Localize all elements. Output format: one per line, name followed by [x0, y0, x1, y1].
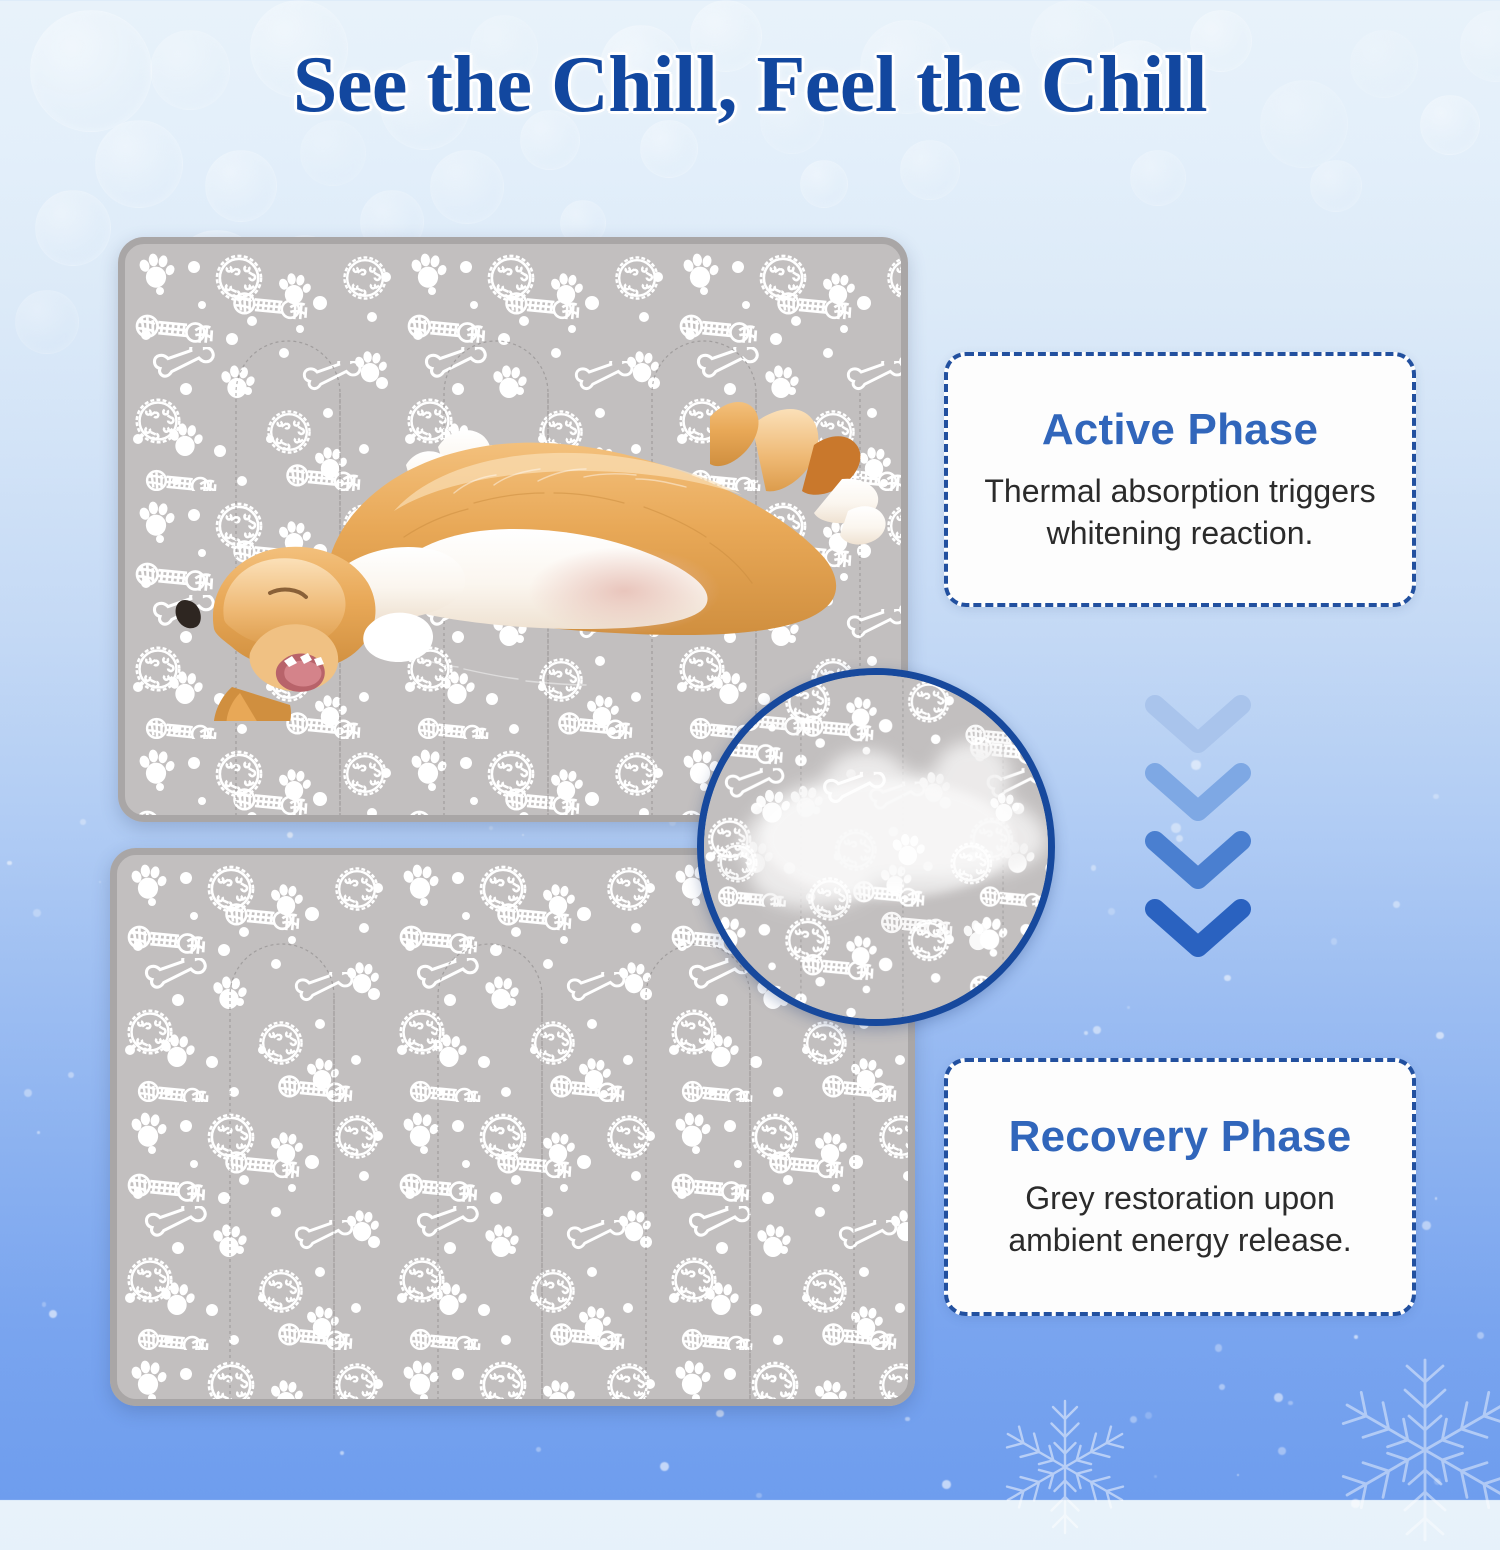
- card-body: Thermal absorption triggers whitening re…: [948, 471, 1412, 554]
- sleeping-corgi: [154, 361, 889, 721]
- snow-particle: [7, 861, 11, 865]
- snow-particle: [1084, 1031, 1088, 1035]
- snow-particle: [99, 881, 101, 883]
- snow-particle: [1436, 1032, 1443, 1039]
- snow-particle: [33, 909, 41, 917]
- snow-particle: [49, 1310, 57, 1318]
- bubble-icon: [1310, 160, 1362, 212]
- snow-particle: [1288, 1401, 1292, 1405]
- snow-particle: [68, 1072, 74, 1078]
- snow-particle: [1351, 1499, 1360, 1508]
- snow-particle: [1422, 1221, 1431, 1230]
- snow-particle: [536, 1447, 541, 1452]
- snow-particle: [660, 1462, 669, 1471]
- snow-particle: [1435, 1197, 1437, 1199]
- snow-particle: [905, 1417, 909, 1421]
- callout-card-recovery-phase: Recovery Phase Grey restoration upon amb…: [944, 1058, 1416, 1316]
- snow-particle: [1215, 1344, 1223, 1352]
- snow-particle: [1091, 865, 1097, 871]
- bubble-icon: [800, 160, 848, 208]
- card-heading: Recovery Phase: [1009, 1112, 1352, 1162]
- bubble-icon: [95, 120, 183, 208]
- magnifier-zoom-circle: [697, 668, 1055, 1026]
- bubble-icon: [35, 190, 111, 266]
- snow-particle: [1127, 1006, 1130, 1009]
- snow-particle: [1393, 901, 1400, 908]
- snow-particle: [80, 819, 86, 825]
- snow-particle: [1354, 1335, 1358, 1339]
- snowflake-icon: [990, 1392, 1140, 1542]
- snow-particle: [24, 1089, 32, 1097]
- chevron-down-icon: [1143, 693, 1253, 759]
- snow-particle: [1224, 975, 1231, 982]
- snow-particle: [1093, 1026, 1101, 1034]
- chevron-down-icon: [1143, 761, 1253, 827]
- bubble-icon: [430, 150, 504, 224]
- flow-arrows: [1143, 693, 1253, 963]
- snow-particle: [1237, 1474, 1239, 1476]
- magnified-mat-view: [697, 668, 1055, 1026]
- snow-particle: [1108, 908, 1115, 915]
- snow-particle: [1130, 1416, 1137, 1423]
- bubble-icon: [205, 150, 277, 222]
- page-title: See the Chill, Feel the Chill: [0, 40, 1500, 131]
- chevron-down-icon: [1143, 829, 1253, 895]
- snow-particle: [716, 1410, 724, 1418]
- snow-particle: [489, 826, 493, 830]
- snow-particle: [1434, 1478, 1441, 1485]
- snow-particle: [1145, 1412, 1152, 1419]
- chevron-down-icon: [1143, 897, 1253, 963]
- snow-particle: [1433, 794, 1438, 799]
- card-heading: Active Phase: [1042, 405, 1318, 455]
- snow-particle: [340, 1451, 344, 1455]
- snow-particle: [1274, 1393, 1283, 1402]
- snow-particle: [37, 1131, 40, 1134]
- snow-particle: [1331, 938, 1337, 944]
- snow-particle: [942, 1480, 951, 1489]
- snow-particle: [756, 1493, 762, 1499]
- snow-particle: [1477, 1332, 1484, 1339]
- snow-particle: [1154, 1475, 1157, 1478]
- snow-particle: [287, 832, 293, 838]
- bubble-icon: [900, 140, 960, 200]
- snow-particle: [42, 1302, 46, 1306]
- snow-particle: [1219, 1384, 1225, 1390]
- snowflake-icon: [1325, 1350, 1500, 1550]
- snow-particle: [1278, 1447, 1286, 1455]
- bubble-icon: [15, 290, 79, 354]
- card-body: Grey restoration upon ambient energy rel…: [948, 1178, 1412, 1261]
- callout-card-active-phase: Active Phase Thermal absorption triggers…: [944, 352, 1416, 607]
- snow-particle: [522, 834, 524, 836]
- bubble-icon: [1130, 150, 1186, 206]
